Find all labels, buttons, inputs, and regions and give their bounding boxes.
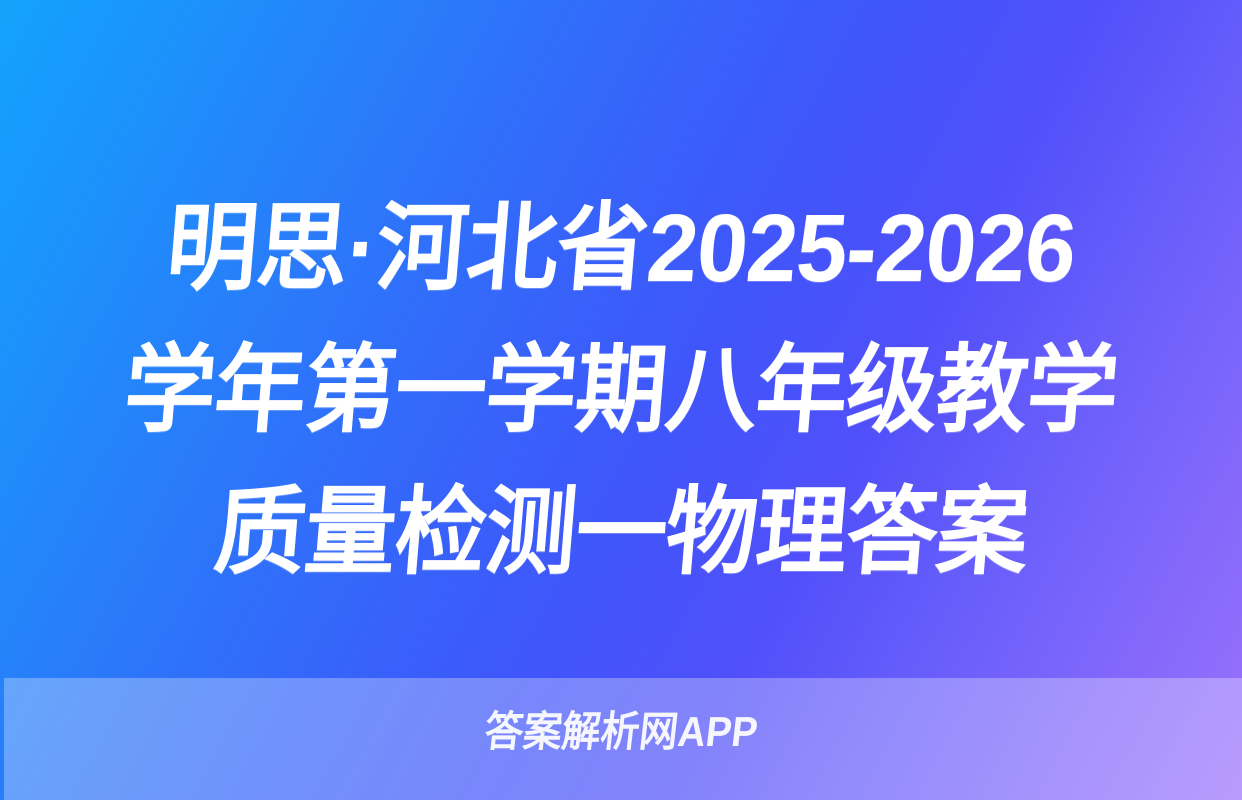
title-line-3: 质量检测一物理答案	[52, 462, 1191, 604]
watermark-app-name: 答案解析网APP	[482, 708, 760, 756]
answer-poster-card: 明思·河北省2025-2026 学年第一学期八年级教学 质量检测一物理答案 答案…	[0, 0, 1242, 800]
watermark: 答案解析网APP	[0, 708, 1242, 756]
title-line-1: 明思·河北省2025-2026	[52, 178, 1191, 320]
page-title: 明思·河北省2025-2026 学年第一学期八年级教学 质量检测一物理答案	[0, 178, 1242, 604]
title-line-2: 学年第一学期八年级教学	[52, 320, 1191, 462]
